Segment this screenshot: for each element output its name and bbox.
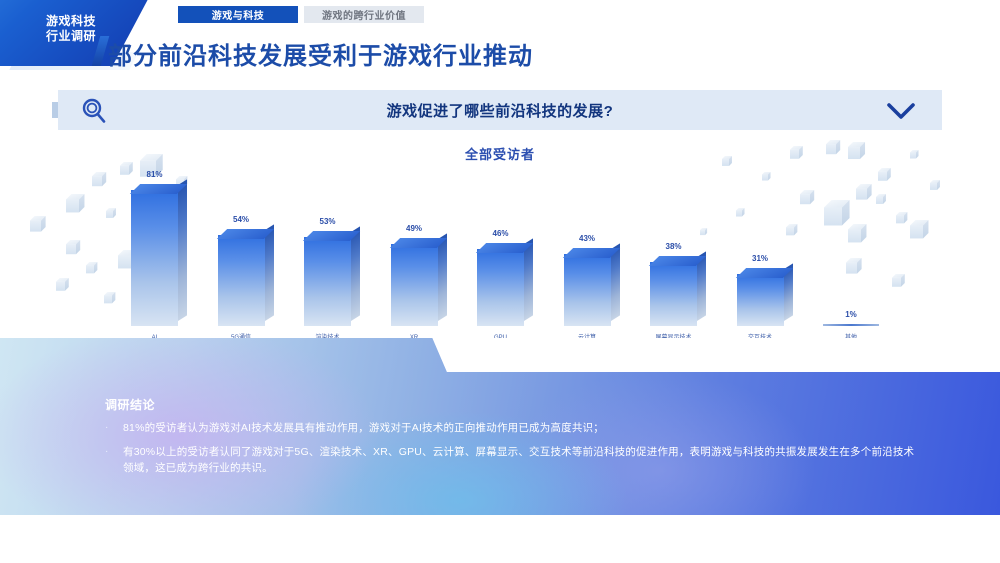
bullet-text: 81%的受访者认为游戏对AI技术发展具有推动作用，游戏对于AI技术的正向推动作用… bbox=[123, 420, 604, 436]
bullet-marker: · bbox=[105, 444, 123, 476]
bar-value-label: 53% bbox=[319, 217, 335, 226]
bar-front-face bbox=[477, 249, 524, 326]
section-tabs[interactable]: 游戏与科技 游戏的跨行业价值 bbox=[178, 6, 424, 23]
bar-side-face bbox=[524, 238, 533, 321]
bar-front-face bbox=[737, 274, 784, 326]
title-accent-bar bbox=[92, 36, 110, 66]
bar-value-label: 1% bbox=[845, 310, 857, 319]
bullet-marker: · bbox=[105, 420, 123, 436]
tab-games-and-tech[interactable]: 游戏与科技 bbox=[178, 6, 298, 23]
bullet-text: 有30%以上的受访者认同了游戏对于5G、渲染技术、XR、GPU、云计算、屏幕显示… bbox=[123, 444, 915, 476]
tab-cross-industry-value[interactable]: 游戏的跨行业价值 bbox=[304, 6, 424, 23]
conclusion-section: 调研结论 ·81%的受访者认为游戏对AI技术发展具有推动作用，游戏对于AI技术的… bbox=[0, 338, 1000, 515]
bar-top-face bbox=[216, 229, 273, 239]
question-text: 游戏促进了哪些前沿科技的发展? bbox=[58, 100, 942, 121]
bar-value-label: 43% bbox=[579, 234, 595, 243]
bar-value-label: 54% bbox=[233, 215, 249, 224]
bar-XR: 49%XR bbox=[391, 244, 438, 326]
bar-交互技术: 31%交互技术 bbox=[737, 274, 784, 326]
bar-top-face bbox=[389, 238, 446, 248]
bar-front-face bbox=[391, 244, 438, 326]
bar-value-label: 38% bbox=[665, 242, 681, 251]
bar-side-face bbox=[178, 179, 187, 321]
bar-其他: 1%其他 bbox=[823, 324, 879, 326]
bar-front-face bbox=[218, 235, 265, 326]
page-title: 部分前沿科技发展受利于游戏行业推动 bbox=[108, 36, 533, 71]
badge-label-line1: 游戏科技 bbox=[16, 14, 126, 29]
bar-5G通信: 54%5G通信 bbox=[218, 235, 265, 326]
bar-chart: 81%AI54%5G通信53%渲染技术49%XR46%GPU43%云计算38%屏… bbox=[0, 132, 1000, 344]
chart-area: 全部受访者 81%AI54%5G通信53%渲染技术49%XR46%GPU43%云… bbox=[0, 132, 1000, 344]
bar-side-face bbox=[265, 224, 274, 321]
bar-front-face bbox=[304, 237, 351, 326]
conclusion-notch-mask bbox=[0, 338, 1000, 372]
bar-side-face bbox=[351, 226, 360, 321]
conclusion-bullets: ·81%的受访者认为游戏对AI技术发展具有推动作用，游戏对于AI技术的正向推动作… bbox=[105, 420, 915, 484]
question-banner[interactable]: 游戏促进了哪些前沿科技的发展? bbox=[58, 90, 942, 130]
conclusion-title: 调研结论 bbox=[105, 396, 155, 413]
bar-front-face bbox=[131, 190, 178, 326]
bullet-item: ·有30%以上的受访者认同了游戏对于5G、渲染技术、XR、GPU、云计算、屏幕显… bbox=[105, 444, 915, 476]
bar-front-face bbox=[564, 254, 611, 326]
bar-value-label: 31% bbox=[752, 254, 768, 263]
chevron-down-icon[interactable] bbox=[886, 102, 916, 120]
bar-value-label: 81% bbox=[146, 170, 162, 179]
bar-top-face bbox=[562, 248, 619, 258]
bar-AI: 81%AI bbox=[131, 190, 178, 326]
bar-value-label: 46% bbox=[492, 229, 508, 238]
bar-屏幕显示技术: 38%屏幕显示技术 bbox=[650, 262, 697, 326]
bar-云计算: 43%云计算 bbox=[564, 254, 611, 326]
bullet-item: ·81%的受访者认为游戏对AI技术发展具有推动作用，游戏对于AI技术的正向推动作… bbox=[105, 420, 915, 436]
bar-value-label: 49% bbox=[406, 224, 422, 233]
slide-root: 游戏科技 行业调研 游戏与科技 游戏的跨行业价值 部分前沿科技发展受利于游戏行业… bbox=[0, 0, 1000, 563]
bar-side-face bbox=[438, 233, 447, 321]
bar-渲染技术: 53%渲染技术 bbox=[304, 237, 351, 326]
bar-top-face bbox=[735, 268, 792, 278]
bar-GPU: 46%GPU bbox=[477, 249, 524, 326]
bar-front-face bbox=[650, 262, 697, 326]
